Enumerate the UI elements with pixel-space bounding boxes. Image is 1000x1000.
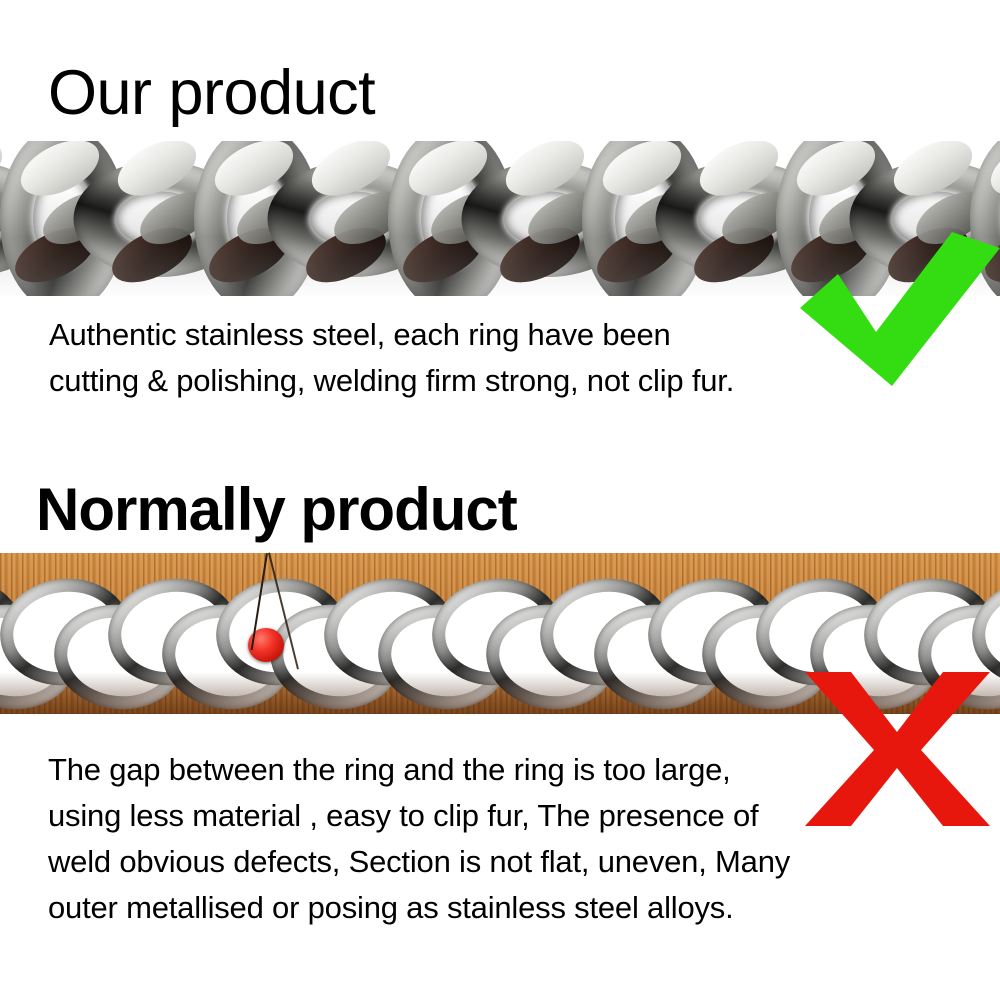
caption-line: weld obvious defects, Section is not fla…	[48, 839, 878, 885]
caption-line: Authentic stainless steel, each ring hav…	[49, 312, 849, 358]
our-product-title: Our product	[48, 62, 375, 125]
caption-line: The gap between the ring and the ring is…	[48, 747, 878, 793]
normal-product-caption: The gap between the ring and the ring is…	[48, 747, 878, 931]
comparison-infographic: Our product Authentic stainless steel, e…	[0, 0, 1000, 1000]
caption-line: outer metallised or posing as stainless …	[48, 885, 878, 931]
normally-product-title: Normally product	[36, 480, 517, 540]
caption-line: using less material , easy to clip fur, …	[48, 793, 878, 839]
good-product-caption: Authentic stainless steel, each ring hav…	[49, 312, 849, 404]
caption-line: cutting & polishing, welding firm strong…	[49, 358, 849, 404]
